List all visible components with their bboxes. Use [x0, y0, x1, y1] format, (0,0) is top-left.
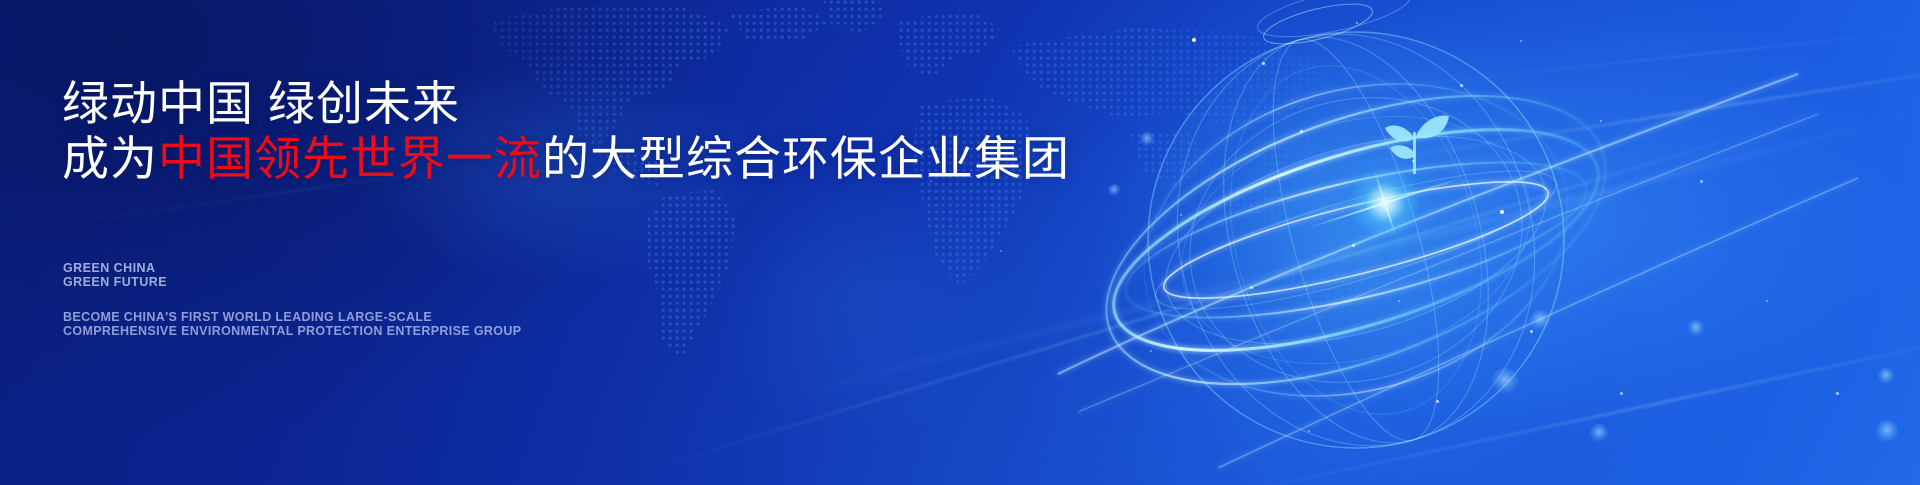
headline-highlight: 中国领先世界一流	[158, 132, 542, 185]
hero-banner: 绿动中国 绿创未来 成为中国领先世界一流的大型综合环保企业集团 GREEN CH…	[0, 0, 1920, 485]
headline-line-1: 绿动中国 绿创未来	[62, 78, 460, 131]
headline-line-2: 成为中国领先世界一流的大型综合环保企业集团	[62, 133, 1070, 186]
light-streak	[1322, 27, 1920, 95]
sprout-icon	[1381, 104, 1451, 178]
english-slogan-line-1: GREEN CHINA	[63, 261, 167, 275]
english-description-line-1: BECOME CHINA'S FIRST WORLD LEADING LARGE…	[63, 310, 521, 324]
english-slogan-line-2: GREEN FUTURE	[63, 275, 167, 289]
light-streak	[1255, 61, 1920, 182]
copy-block: 绿动中国 绿创未来 成为中国领先世界一流的大型综合环保企业集团 GREEN CH…	[60, 0, 1060, 485]
light-streak	[1159, 332, 1920, 485]
globe-lines	[1098, 0, 1618, 485]
globe-glow	[1008, 0, 1708, 485]
wireframe-globe	[1098, 0, 1618, 485]
english-description: BECOME CHINA'S FIRST WORLD LEADING LARGE…	[63, 310, 521, 338]
headline-suffix: 的大型综合环保企业集团	[542, 132, 1070, 185]
headline-prefix: 成为	[62, 132, 158, 185]
english-description-line-2: COMPREHENSIVE ENVIRONMENTAL PROTECTION E…	[63, 324, 521, 338]
glowing-core-star	[1330, 148, 1440, 258]
english-slogan: GREEN CHINA GREEN FUTURE	[63, 261, 167, 289]
